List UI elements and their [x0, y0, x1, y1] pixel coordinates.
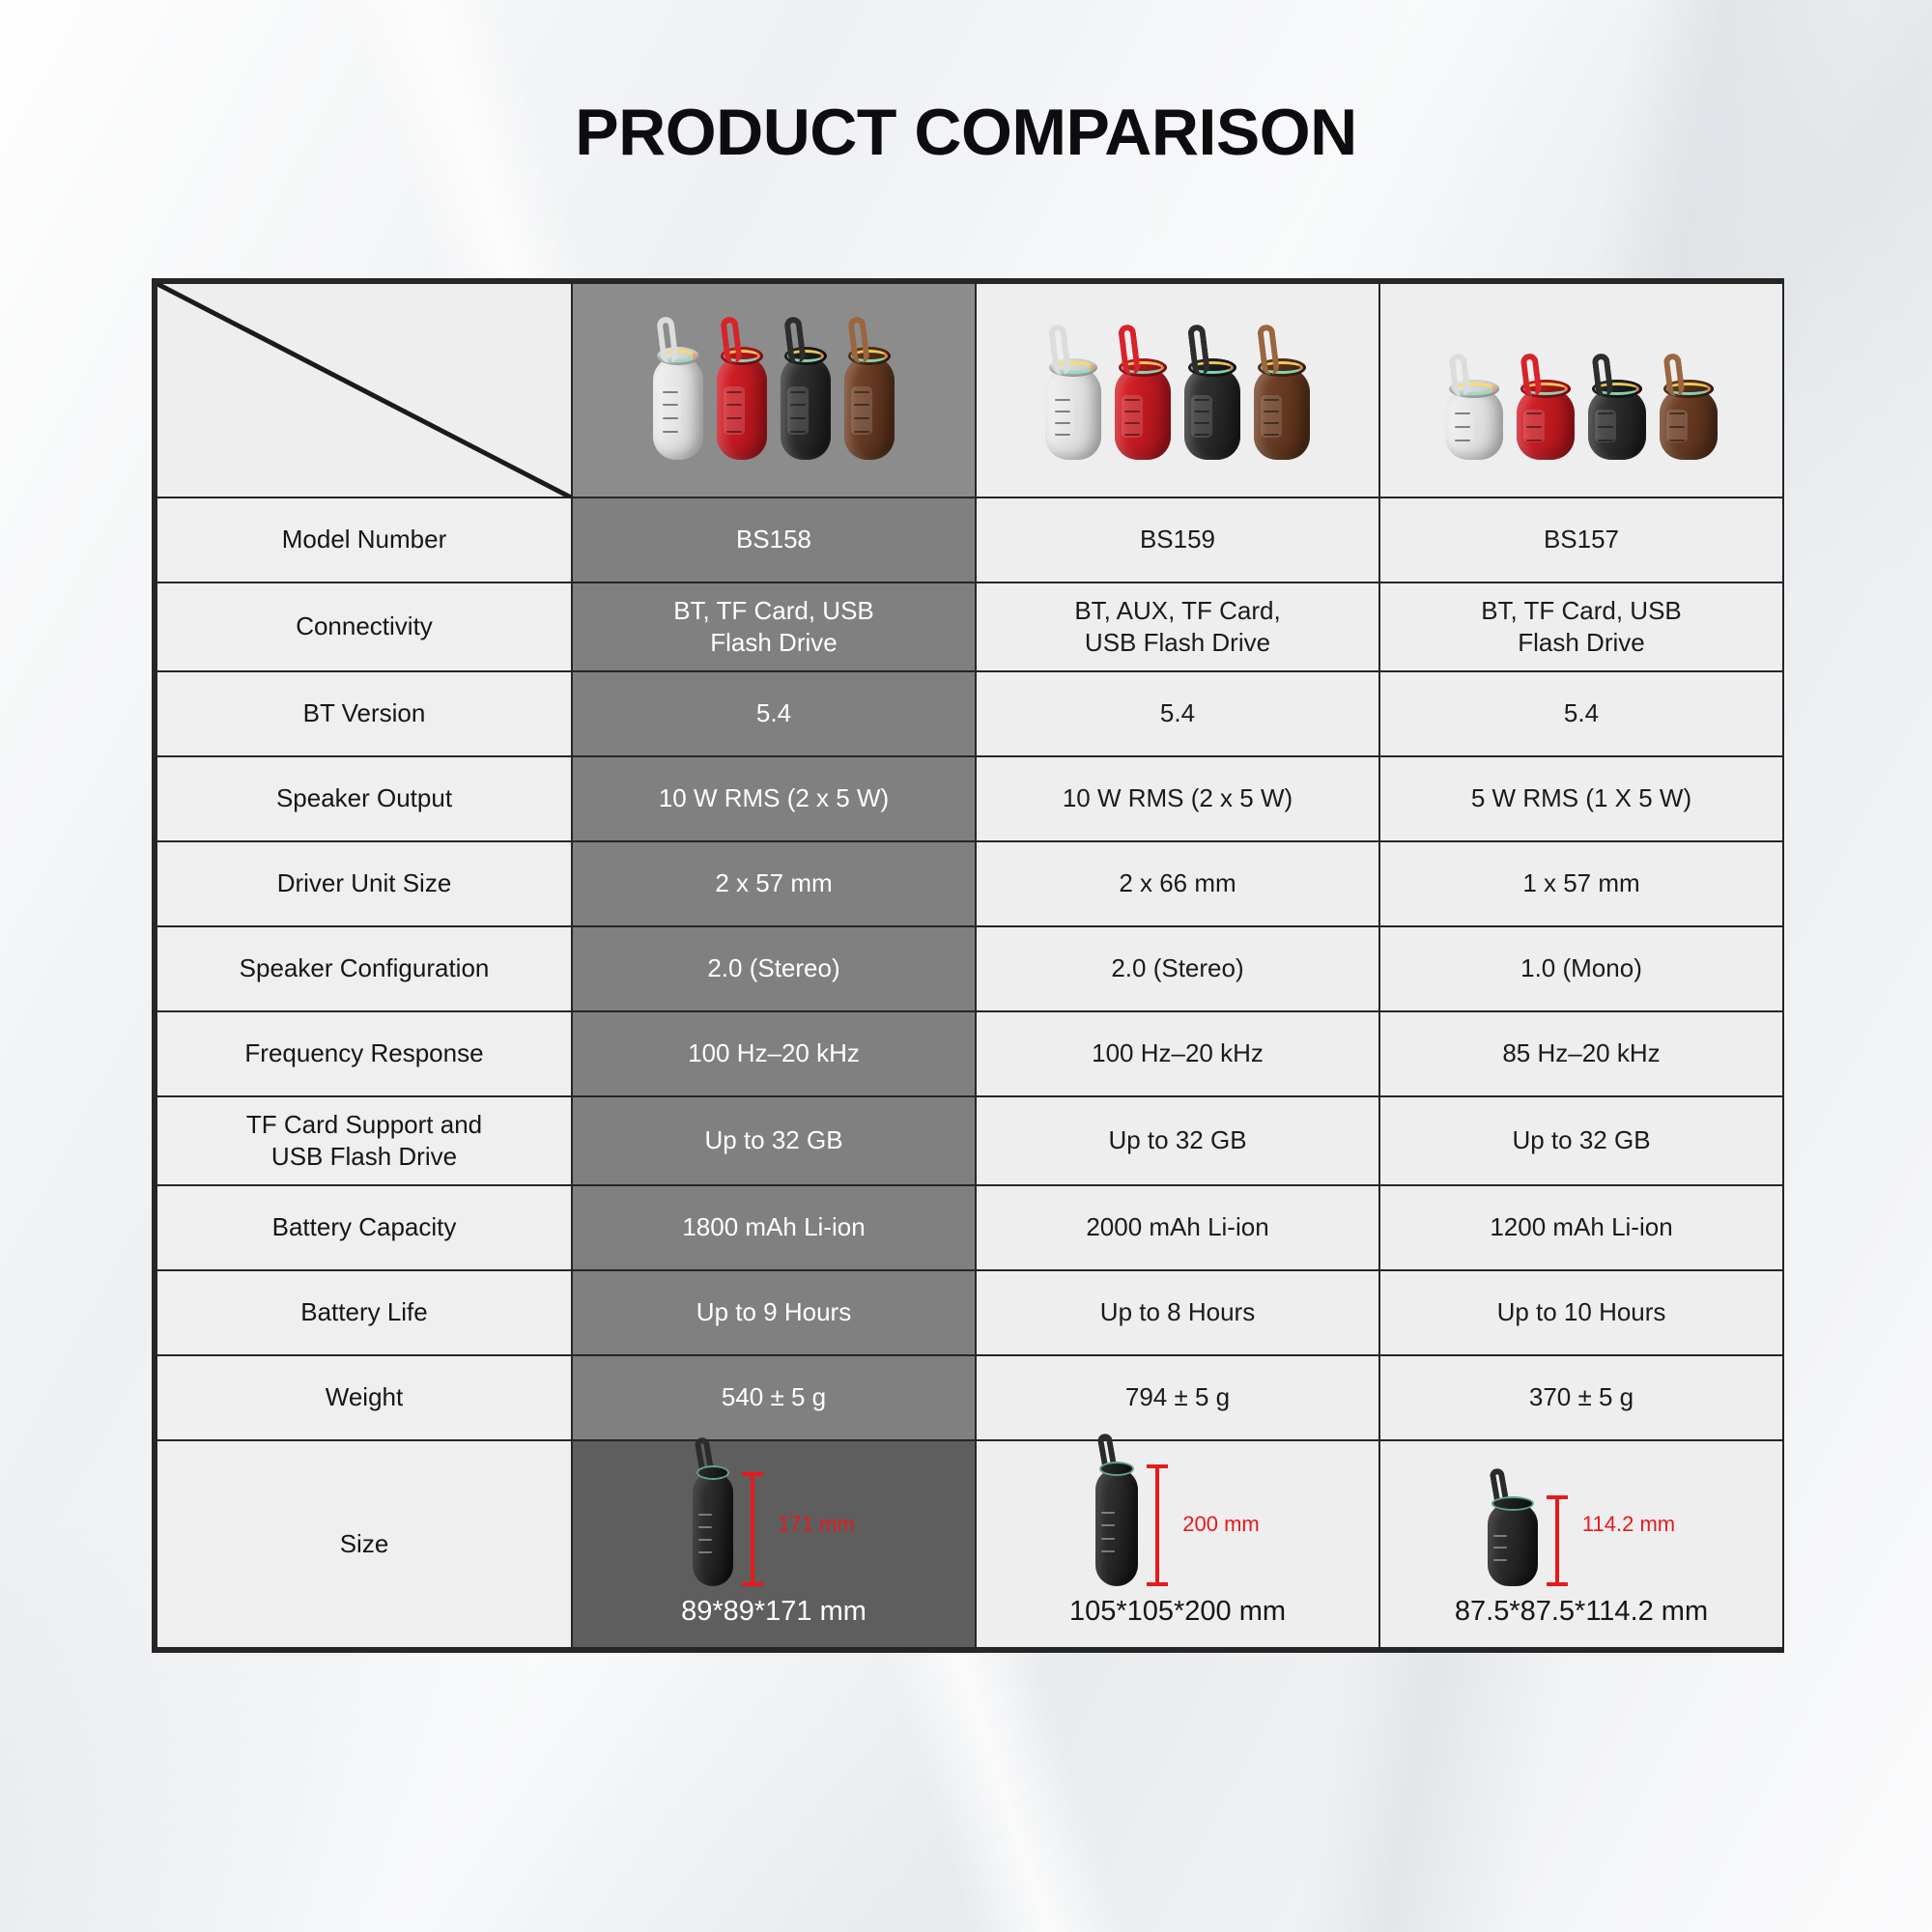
- button-strip: [1526, 412, 1542, 441]
- button-strip: [698, 1509, 712, 1559]
- table-row: Battery Life Up to 9 Hours Up to 8 Hours…: [156, 1270, 1783, 1355]
- table-row: Frequency Response 100 Hz–20 kHz 100 Hz–…: [156, 1011, 1783, 1096]
- speaker-body: [653, 355, 703, 460]
- cell-bs158-tf-card-support: Up to 32 GB: [572, 1096, 976, 1185]
- cell-bs159-connectivity: BT, AUX, TF Card, USB Flash Drive: [976, 582, 1379, 671]
- speaker-black: [1184, 367, 1240, 460]
- spec-label-connectivity: Connectivity: [156, 582, 572, 671]
- cell-bs159-size: 200 mm 105*105*200 mm: [976, 1440, 1379, 1648]
- spec-label-battery-capacity: Battery Capacity: [156, 1185, 572, 1270]
- button-strip: [1055, 399, 1070, 436]
- dimension-bracket-icon: [1155, 1464, 1159, 1586]
- speaker-red: [1115, 367, 1171, 460]
- table-row: Connectivity BT, TF Card, USB Flash Driv…: [156, 582, 1783, 671]
- comparison-table-container: Model Number BS158 BS159 BS157 Connectiv…: [152, 278, 1784, 1653]
- button-strip: [663, 391, 678, 433]
- speaker-body: [1115, 367, 1171, 460]
- speaker-group-bs158: [581, 294, 967, 487]
- cell-bs157-speaker-configuration: 1.0 (Mono): [1379, 926, 1783, 1011]
- cell-bs158-frequency-response: 100 Hz–20 kHz: [572, 1011, 976, 1096]
- cell-line-2: USB Flash Drive: [984, 627, 1371, 659]
- button-strip: [1493, 1530, 1507, 1567]
- diagonal-divider-icon: [157, 284, 571, 497]
- speaker-group-bs157: [1388, 294, 1775, 487]
- cell-bs158-driver-unit-size: 2 x 57 mm: [572, 841, 976, 926]
- speaker-body: [1045, 367, 1101, 460]
- speaker-red: [717, 355, 767, 460]
- cell-bs158-battery-capacity: 1800 mAh Li-ion: [572, 1185, 976, 1270]
- cell-bs157-driver-unit-size: 1 x 57 mm: [1379, 841, 1783, 926]
- button-strip: [1264, 399, 1279, 436]
- spec-label-bt-version: BT Version: [156, 671, 572, 756]
- cell-line-2: Flash Drive: [581, 627, 967, 659]
- product-image-bs157: [1379, 283, 1783, 497]
- cell-bs159-speaker-output: 10 W RMS (2 x 5 W): [976, 756, 1379, 841]
- cell-bs158-speaker-output: 10 W RMS (2 x 5 W): [572, 756, 976, 841]
- product-image-bs159: [976, 283, 1379, 497]
- spec-label-size: Size: [156, 1440, 572, 1648]
- table-row: Speaker Output 10 W RMS (2 x 5 W) 10 W R…: [156, 756, 1783, 841]
- cell-bs158-bt-version: 5.4: [572, 671, 976, 756]
- button-strip: [1101, 1506, 1115, 1558]
- button-strip: [854, 391, 869, 433]
- size-figure: 200 mm: [1095, 1463, 1259, 1586]
- speaker-brown: [1254, 367, 1310, 460]
- cell-line-2: Flash Drive: [1388, 627, 1775, 659]
- spec-label-driver-unit-size: Driver Unit Size: [156, 841, 572, 926]
- speaker-body: [1254, 367, 1310, 460]
- speaker-top: [1492, 1496, 1534, 1511]
- product-image-bs158: [572, 283, 976, 497]
- size-caption-bs158: 89*89*171 mm: [681, 1594, 867, 1630]
- label-line-1: TF Card Support and: [165, 1109, 563, 1141]
- speaker-silhouette: [693, 1472, 733, 1586]
- cell-bs159-battery-capacity: 2000 mAh Li-ion: [976, 1185, 1379, 1270]
- size-illustration-bs157: 114.2 mm 87.5*87.5*114.2 mm: [1388, 1451, 1775, 1637]
- speaker-white: [1045, 367, 1101, 460]
- table-row: Model Number BS158 BS159 BS157: [156, 497, 1783, 582]
- page-root: PRODUCT COMPARISON: [0, 0, 1932, 1932]
- cell-bs158-connectivity: BT, TF Card, USB Flash Drive: [572, 582, 976, 671]
- speaker-silhouette: [1488, 1503, 1538, 1586]
- cell-line-1: BT, TF Card, USB: [581, 595, 967, 627]
- cell-bs158-speaker-configuration: 2.0 (Stereo): [572, 926, 976, 1011]
- cell-bs157-connectivity: BT, TF Card, USB Flash Drive: [1379, 582, 1783, 671]
- speaker-body: [1660, 388, 1718, 460]
- speaker-body: [781, 355, 831, 460]
- speaker-white: [1445, 388, 1503, 460]
- size-figure: 114.2 mm: [1488, 1463, 1675, 1586]
- dimension-label-bs157: 114.2 mm: [1582, 1511, 1675, 1538]
- speaker-black: [781, 355, 831, 460]
- speaker-white: [653, 355, 703, 460]
- cell-bs159-model-number: BS159: [976, 497, 1379, 582]
- table-header-row: [156, 283, 1783, 497]
- speaker-body: [1184, 367, 1240, 460]
- cell-bs159-weight: 794 ± 5 g: [976, 1355, 1379, 1440]
- spec-label-speaker-configuration: Speaker Configuration: [156, 926, 572, 1011]
- size-caption-bs157: 87.5*87.5*114.2 mm: [1455, 1594, 1708, 1630]
- size-illustration-bs158: 171 mm 89*89*171 mm: [581, 1451, 967, 1637]
- cell-bs157-tf-card-support: Up to 32 GB: [1379, 1096, 1783, 1185]
- spec-label-weight: Weight: [156, 1355, 572, 1440]
- speaker-silhouette: [1095, 1468, 1138, 1586]
- speaker-red: [1517, 388, 1575, 460]
- cell-bs157-model-number: BS157: [1379, 497, 1783, 582]
- button-strip: [1124, 399, 1140, 436]
- spec-label-tf-card-support: TF Card Support and USB Flash Drive: [156, 1096, 572, 1185]
- size-figure: 171 mm: [693, 1463, 854, 1586]
- cell-bs159-bt-version: 5.4: [976, 671, 1379, 756]
- speaker-body: [844, 355, 895, 460]
- spec-label-model-number: Model Number: [156, 497, 572, 582]
- cell-bs157-battery-life: Up to 10 Hours: [1379, 1270, 1783, 1355]
- dimension-label-bs159: 200 mm: [1182, 1511, 1259, 1538]
- cell-bs158-weight: 540 ± 5 g: [572, 1355, 976, 1440]
- table-row: Speaker Configuration 2.0 (Stereo) 2.0 (…: [156, 926, 1783, 1011]
- speaker-body: [717, 355, 767, 460]
- spec-label-speaker-output: Speaker Output: [156, 756, 572, 841]
- table-row: Weight 540 ± 5 g 794 ± 5 g 370 ± 5 g: [156, 1355, 1783, 1440]
- cell-bs157-battery-capacity: 1200 mAh Li-ion: [1379, 1185, 1783, 1270]
- comparison-table: Model Number BS158 BS159 BS157 Connectiv…: [156, 282, 1784, 1649]
- size-caption-bs159: 105*105*200 mm: [1069, 1594, 1286, 1630]
- cell-bs159-frequency-response: 100 Hz–20 kHz: [976, 1011, 1379, 1096]
- speaker-body: [1588, 388, 1646, 460]
- cell-bs158-battery-life: Up to 9 Hours: [572, 1270, 976, 1355]
- button-strip: [726, 391, 742, 433]
- size-illustration-bs159: 200 mm 105*105*200 mm: [984, 1451, 1371, 1637]
- label-line-2: USB Flash Drive: [165, 1141, 563, 1173]
- table-row: Battery Capacity 1800 mAh Li-ion 2000 mA…: [156, 1185, 1783, 1270]
- spec-label-battery-life: Battery Life: [156, 1270, 572, 1355]
- cell-bs159-battery-life: Up to 8 Hours: [976, 1270, 1379, 1355]
- cell-line-1: BT, AUX, TF Card,: [984, 595, 1371, 627]
- cell-bs159-tf-card-support: Up to 32 GB: [976, 1096, 1379, 1185]
- button-strip: [1598, 412, 1613, 441]
- button-strip: [790, 391, 806, 433]
- speaker-body: [1517, 388, 1575, 460]
- cell-bs157-frequency-response: 85 Hz–20 kHz: [1379, 1011, 1783, 1096]
- dimension-label-bs158: 171 mm: [778, 1511, 854, 1538]
- speaker-top: [1099, 1462, 1134, 1476]
- dimension-bracket-icon: [1555, 1495, 1559, 1586]
- speaker-brown: [844, 355, 895, 460]
- dimension-bracket-icon: [751, 1472, 754, 1586]
- button-strip: [1194, 399, 1209, 436]
- spec-label-frequency-response: Frequency Response: [156, 1011, 572, 1096]
- corner-cell: [156, 283, 572, 497]
- table-row-size: Size 171 mm: [156, 1440, 1783, 1648]
- cell-bs157-size: 114.2 mm 87.5*87.5*114.2 mm: [1379, 1440, 1783, 1648]
- cell-line-1: BT, TF Card, USB: [1388, 595, 1775, 627]
- cell-bs157-weight: 370 ± 5 g: [1379, 1355, 1783, 1440]
- cell-bs157-bt-version: 5.4: [1379, 671, 1783, 756]
- table-row: BT Version 5.4 5.4 5.4: [156, 671, 1783, 756]
- speaker-group-bs159: [984, 294, 1371, 487]
- cell-bs158-model-number: BS158: [572, 497, 976, 582]
- cell-bs157-speaker-output: 5 W RMS (1 X 5 W): [1379, 756, 1783, 841]
- cell-bs158-size: 171 mm 89*89*171 mm: [572, 1440, 976, 1648]
- button-strip: [1669, 412, 1685, 441]
- table-row: Driver Unit Size 2 x 57 mm 2 x 66 mm 1 x…: [156, 841, 1783, 926]
- page-title: PRODUCT COMPARISON: [0, 95, 1932, 170]
- speaker-brown: [1660, 388, 1718, 460]
- cell-bs159-speaker-configuration: 2.0 (Stereo): [976, 926, 1379, 1011]
- speaker-body: [1445, 388, 1503, 460]
- cell-bs159-driver-unit-size: 2 x 66 mm: [976, 841, 1379, 926]
- speaker-top: [696, 1465, 729, 1480]
- table-row: TF Card Support and USB Flash Drive Up t…: [156, 1096, 1783, 1185]
- button-strip: [1455, 412, 1470, 441]
- speaker-black: [1588, 388, 1646, 460]
